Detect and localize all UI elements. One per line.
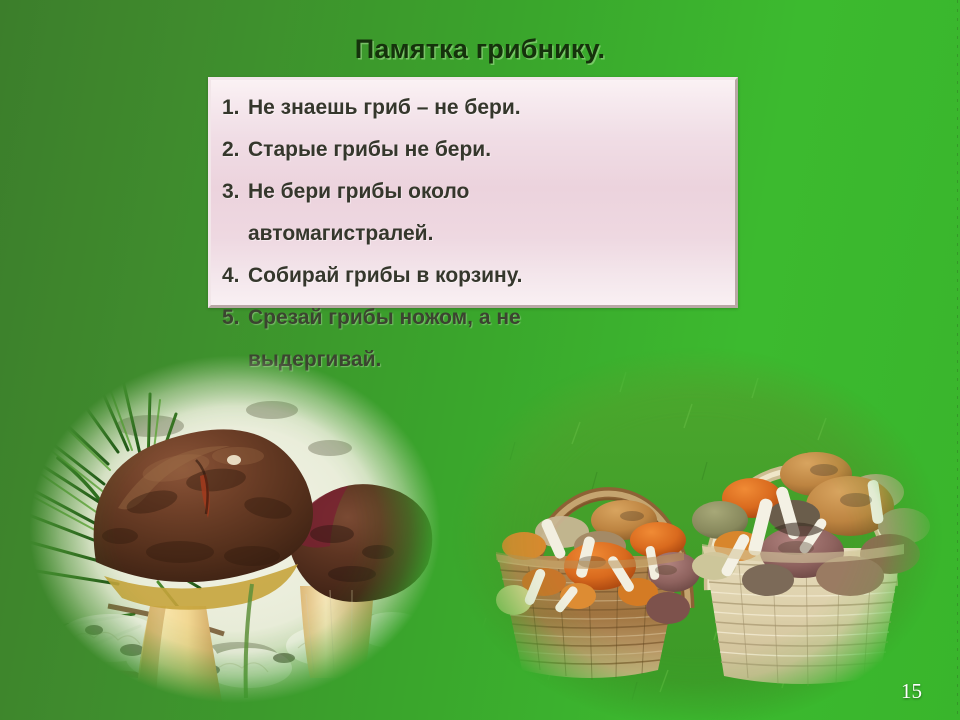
list-item-text: автомагистралей.: [248, 222, 748, 246]
list-item-number: 4.: [208, 264, 248, 288]
slide-edge-rule: [957, 0, 958, 720]
list-item: 4. Собирай грибы в корзину.: [208, 264, 748, 306]
list-item-continuation: автомагистралей.: [208, 222, 748, 264]
list-item-text: Собирай грибы в корзину.: [248, 264, 748, 288]
list-item: 3. Не бери грибы около: [208, 180, 748, 222]
list-item-text: Не знаешь гриб – не бери.: [248, 96, 748, 120]
list-item-number: 3.: [208, 180, 248, 204]
page-title: Памятка грибнику.: [0, 34, 960, 65]
list-item-number: 5.: [208, 306, 248, 330]
page-number: 15: [901, 679, 922, 704]
list-item-number: 2.: [208, 138, 248, 162]
list-item-number: 1.: [208, 96, 248, 120]
list-item-text: Старые грибы не бери.: [248, 138, 748, 162]
slide-canvas: Памятка грибнику. 1. Не знаешь гриб – не…: [0, 0, 960, 720]
list-item-text: Не бери грибы около: [248, 180, 748, 204]
list-item-text: Срезай грибы ножом, а не: [248, 306, 748, 330]
list-item: 2. Старые грибы не бери.: [208, 138, 748, 180]
porcini-mushrooms-photo: [0, 338, 452, 720]
mushroom-baskets-photo: [452, 340, 942, 720]
list-item: 1. Не знаешь гриб – не бери.: [208, 96, 748, 138]
